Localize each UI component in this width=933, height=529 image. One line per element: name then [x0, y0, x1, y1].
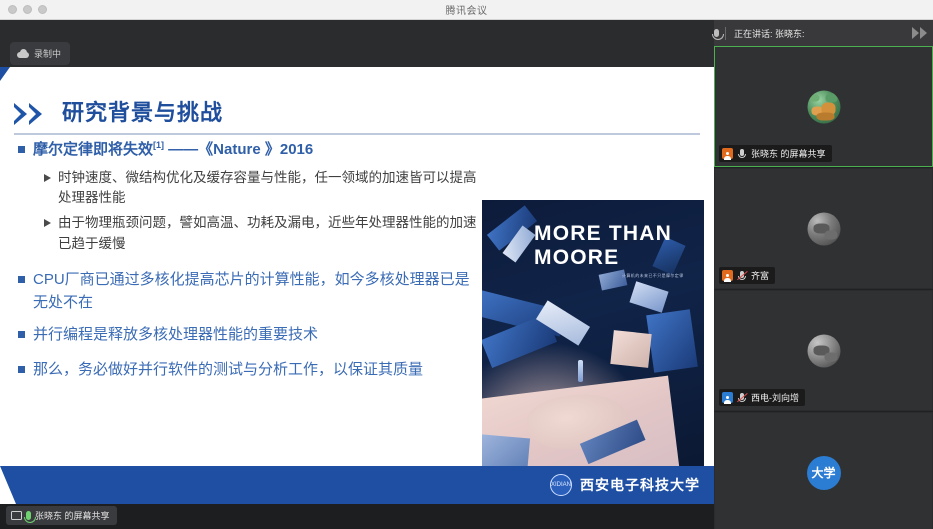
participant-label: 西电-刘向增 — [719, 389, 805, 406]
bullet-text: 那么，务必做好并行软件的测试与分析工作，以保证其质量 — [33, 359, 423, 382]
title-divider — [14, 133, 700, 135]
active-speaker-text: 正在讲话: 张晓东: — [732, 27, 906, 40]
participant-badge-icon — [722, 270, 733, 281]
university-name: 西安电子科技大学 — [580, 475, 700, 495]
bullet-square-icon — [18, 331, 25, 338]
bullet-item: 摩尔定律即将失效[1] ——《Nature 》2016 — [18, 139, 480, 162]
bullet-item: 并行编程是释放多核处理器性能的重要技术 — [18, 324, 480, 347]
participant-tile[interactable]: 大学 — [714, 412, 933, 529]
screen-share-badge-icon — [722, 148, 733, 159]
active-speaker-bar: 正在讲话: 张晓东: — [714, 20, 933, 46]
avatar — [807, 334, 840, 367]
window-titlebar: 腾讯会议 — [0, 0, 933, 20]
shared-screen-stage: 录制中 研究背景与挑战 摩尔定律即将失效[1] ——《Nature 》2016 … — [0, 20, 714, 529]
window-title: 腾讯会议 — [0, 2, 933, 17]
cover-title-line2: MOORE — [534, 246, 619, 270]
slide-corner-accent — [0, 67, 10, 81]
microphone-icon — [737, 149, 747, 159]
meeting-window: 腾讯会议 录制中 研究背景与挑战 摩尔定律即将失效[1] ——《Nature 》… — [0, 0, 933, 529]
avatar-initials: 大学 — [807, 456, 841, 490]
screen-share-label: 张晓东 的屏幕共享 — [35, 509, 110, 522]
bullet-text: 摩尔定律即将失效[1] ——《Nature 》2016 — [33, 139, 313, 162]
participant-tile[interactable]: 张晓东 的屏幕共享 — [714, 46, 933, 167]
sub-bullet-text: 由于物理瓶颈问题，譬如高温、功耗及漏电，近些年处理器性能的加速已趋于缓慢 — [58, 213, 478, 255]
cover-figure — [578, 360, 583, 382]
microphone-muted-icon — [737, 393, 747, 403]
cover-subtitle: 计算机的未来已不只是摩尔定律 — [622, 273, 684, 279]
participant-tile[interactable]: 西电-刘向增 — [714, 290, 933, 411]
bullet-text: CPU厂商已通过多核化提高芯片的计算性能，如今多核处理器已是无处不在 — [33, 269, 473, 314]
avatar — [807, 90, 840, 123]
slide-title: 研究背景与挑战 — [62, 95, 223, 127]
university-logo: XIDIAN 西安电子科技大学 — [550, 474, 700, 496]
recording-badge: 录制中 — [10, 42, 70, 65]
presentation-slide: 研究背景与挑战 摩尔定律即将失效[1] ——《Nature 》2016 时钟速度… — [0, 67, 714, 504]
stage-bottom-bar: 张晓东 的屏幕共享 — [0, 504, 714, 529]
bullet-item: 那么，务必做好并行软件的测试与分析工作，以保证其质量 — [18, 359, 480, 382]
sub-bullet-item: 由于物理瓶颈问题，譬如高温、功耗及漏电，近些年处理器性能的加速已趋于缓慢 — [44, 213, 480, 255]
bullet-text: 并行编程是释放多核处理器性能的重要技术 — [33, 324, 318, 347]
participant-name: 齐富 — [751, 269, 769, 282]
monitor-icon — [11, 511, 22, 520]
chevron-double-icon — [14, 103, 42, 125]
university-seal-icon: XIDIAN — [550, 474, 572, 496]
slide-footer: XIDIAN 西安电子科技大学 — [0, 466, 714, 504]
arrow-bullet-icon — [44, 219, 51, 227]
sub-bullet-text: 时钟速度、微结构优化及缓存容量与性能，任一领域的加速皆可以提高处理器性能 — [58, 168, 478, 210]
participant-label: 齐富 — [719, 267, 775, 284]
cloud-record-icon — [17, 49, 29, 58]
cover-title-line1: MORE THAN — [534, 222, 672, 246]
microphone-icon — [26, 511, 31, 520]
bullet-item: CPU厂商已通过多核化提高芯片的计算性能，如今多核处理器已是无处不在 — [18, 269, 480, 314]
collapse-panel-chevron-icon[interactable] — [912, 27, 927, 39]
slide-content: 摩尔定律即将失效[1] ——《Nature 》2016 时钟速度、微结构优化及缓… — [0, 139, 480, 389]
bullet-square-icon — [18, 276, 25, 283]
participant-name: 西电-刘向增 — [751, 391, 799, 404]
bullet-square-icon — [18, 366, 25, 373]
bullet-square-icon — [18, 146, 25, 153]
arrow-bullet-icon — [44, 174, 51, 182]
divider — [725, 27, 726, 40]
recording-label: 录制中 — [34, 47, 61, 60]
participant-label: 张晓东 的屏幕共享 — [719, 145, 832, 162]
speaker-mic-icon — [714, 29, 719, 37]
footer-notch-accent — [0, 466, 16, 504]
sub-bullet-item: 时钟速度、微结构优化及缓存容量与性能，任一领域的加速皆可以提高处理器性能 — [44, 168, 480, 210]
nature-cover-image: MORE THAN MOORE 计算机的未来已不只是摩尔定律 — [482, 200, 704, 492]
participant-panel: 正在讲话: 张晓东: 张晓东 的屏幕共享 — [714, 20, 933, 529]
participant-name: 张晓东 的屏幕共享 — [751, 147, 826, 160]
avatar — [807, 212, 840, 245]
participant-tile[interactable]: 齐富 — [714, 168, 933, 289]
participant-badge-icon — [722, 392, 733, 403]
screen-share-chip: 张晓东 的屏幕共享 — [6, 506, 117, 525]
microphone-muted-icon — [737, 271, 747, 281]
